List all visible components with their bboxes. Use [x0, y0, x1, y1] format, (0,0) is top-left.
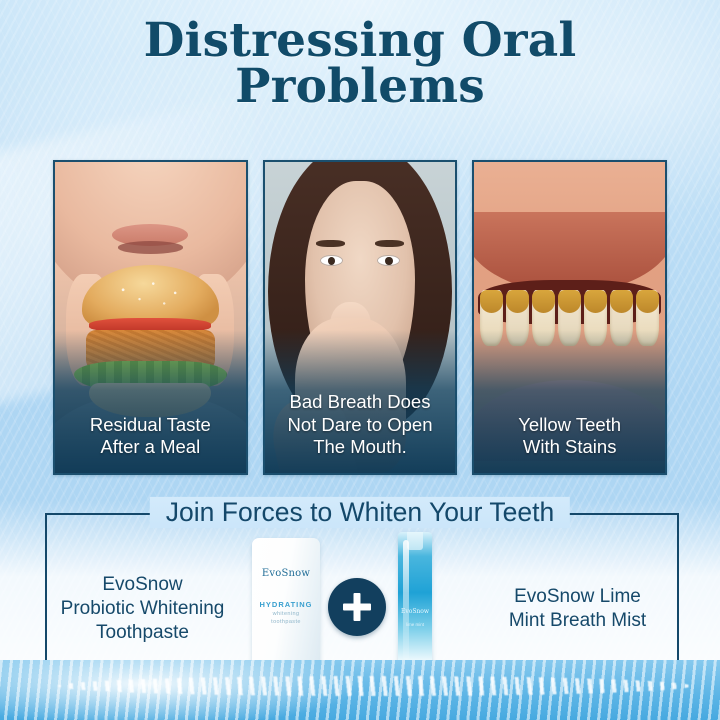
panel-residual-taste: Residual Taste After a Meal: [53, 160, 248, 475]
mist-brand: EvoSnow: [398, 608, 432, 615]
product-label-toothpaste: EvoSnow Probiotic Whitening Toothpaste: [45, 573, 246, 646]
breath-mist-bottle-image: EvoSnow lime mint: [398, 532, 432, 684]
product-visuals: EvoSnow HYDRATING whitening toothpaste E…: [246, 528, 476, 690]
panel-bad-breath: Bad Breath Does Not Dare to Open The Mou…: [263, 160, 458, 475]
mist-sublabel: lime mint: [398, 622, 432, 629]
tube-line-1: HYDRATING: [252, 600, 320, 609]
product-label-breath-mist: EvoSnow Lime Mint Breath Mist: [476, 585, 675, 634]
mist-nozzle: [407, 532, 423, 550]
mist-highlight: [403, 540, 409, 660]
panel-caption: Bad Breath Does Not Dare to Open The Mou…: [269, 391, 452, 459]
combo-content: EvoSnow Probiotic Whitening Toothpaste E…: [45, 528, 675, 690]
tube-line-3: toothpaste: [252, 619, 320, 625]
toothpaste-tube-image: EvoSnow HYDRATING whitening toothpaste: [252, 538, 320, 678]
title-line-2: Problems: [0, 64, 720, 110]
plus-icon: [328, 578, 386, 636]
tube-cap: [273, 666, 299, 678]
tube-line-2: whitening: [252, 611, 320, 617]
combo-heading: Join Forces to Whiten Your Teeth: [150, 497, 570, 528]
poster-root: Distressing Oral Problems Residual Taste…: [0, 0, 720, 720]
problem-panels: Residual Taste After a Meal Bad Breath D…: [53, 160, 667, 475]
panel-caption: Residual Taste After a Meal: [59, 414, 242, 459]
panel-yellow-teeth: Yellow Teeth With Stains: [472, 160, 667, 475]
tube-brand: EvoSnow: [252, 568, 320, 579]
page-title: Distressing Oral Problems: [0, 18, 720, 110]
panel-caption: Yellow Teeth With Stains: [478, 414, 661, 459]
